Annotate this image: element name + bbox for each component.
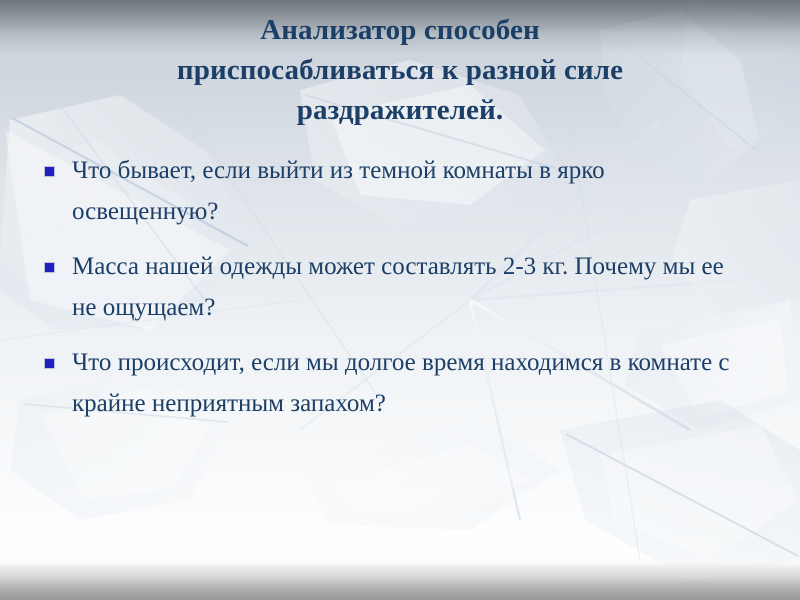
title-line-2: приспосабливаться к разной силе: [40, 50, 760, 90]
title-line-1: Анализатор способен: [40, 10, 760, 50]
bullet-list: Что бывает, если выйти из темной комнаты…: [34, 150, 750, 438]
square-bullet-icon: [45, 359, 54, 368]
square-bullet-icon: [45, 263, 54, 272]
list-item: Что бывает, если выйти из темной комнаты…: [34, 150, 750, 232]
square-bullet-icon: [45, 167, 54, 176]
title-line-3: раздражителей.: [40, 90, 760, 130]
slide-title: Анализатор способен приспосабливаться к …: [40, 10, 760, 130]
list-item: Масса нашей одежды может составлять 2-3 …: [34, 246, 750, 328]
bullet-text: Что происходит, если мы долгое время нах…: [72, 342, 750, 424]
list-item: Что происходит, если мы долгое время нах…: [34, 342, 750, 424]
bullet-text: Что бывает, если выйти из темной комнаты…: [72, 150, 750, 232]
slide-content: Анализатор способен приспосабливаться к …: [0, 0, 800, 600]
presentation-slide: Анализатор способен приспосабливаться к …: [0, 0, 800, 600]
bullet-text: Масса нашей одежды может составлять 2-3 …: [72, 246, 750, 328]
